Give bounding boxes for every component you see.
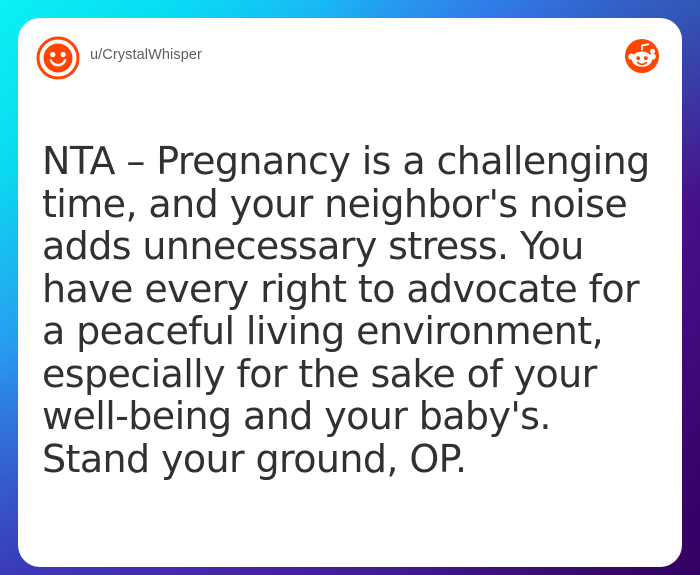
card-header: u/CrystalWhisper: [18, 18, 682, 98]
reddit-snoo-icon[interactable]: [622, 36, 662, 76]
post-body-text: NTA – Pregnancy is a challenging time, a…: [42, 140, 660, 480]
smiley-face-avatar-icon[interactable]: [36, 36, 80, 80]
username-label: u/CrystalWhisper: [90, 47, 202, 63]
screenshot-root: u/CrystalWhisper NTA – Pregnancy is a ch…: [0, 0, 700, 575]
reddit-comment-card: u/CrystalWhisper NTA – Pregnancy is a ch…: [18, 18, 682, 567]
